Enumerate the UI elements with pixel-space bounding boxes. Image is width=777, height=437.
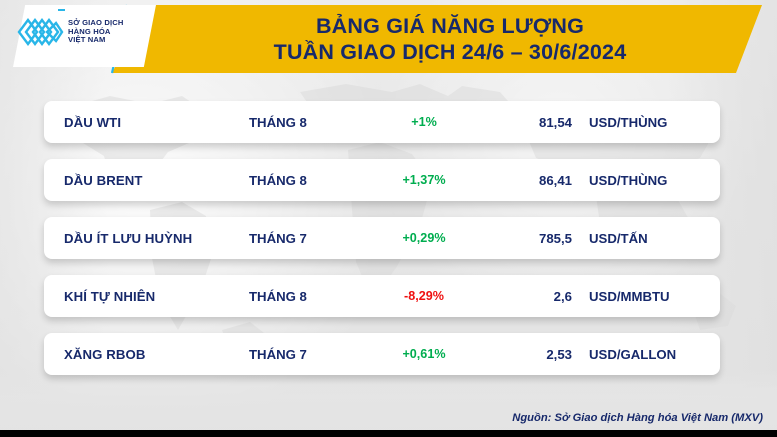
logo-tick-mark-icon bbox=[58, 9, 65, 11]
contract-month: THÁNG 7 bbox=[249, 347, 307, 362]
table-row[interactable]: KHÍ TỰ NHIÊNTHÁNG 8-8,29%2,6USD/MMBTU bbox=[44, 275, 720, 317]
contract-month: THÁNG 8 bbox=[249, 115, 307, 130]
table-row[interactable]: DẦU WTITHÁNG 8+1%81,54USD/THÙNG bbox=[44, 101, 720, 143]
table-row[interactable]: XĂNG RBOBTHÁNG 7+0,61%2,53USD/GALLON bbox=[44, 333, 720, 375]
price-unit: USD/THÙNG bbox=[589, 115, 667, 130]
brand-logo: SỞ GIAO DỊCH HÀNG HÓA VIỆT NAM bbox=[16, 8, 144, 56]
price-value: 86,41 bbox=[434, 173, 572, 188]
footer-bar bbox=[0, 430, 777, 437]
price-unit: USD/MMBTU bbox=[589, 289, 670, 304]
page-title: BẢNG GIÁ NĂNG LƯỢNG TUẦN GIAO DỊCH 24/6 … bbox=[150, 10, 750, 68]
price-table: DẦU WTITHÁNG 8+1%81,54USD/THÙNGDẦU BRENT… bbox=[44, 101, 720, 375]
page-header: BẢNG GIÁ NĂNG LƯỢNG TUẦN GIAO DỊCH 24/6 … bbox=[0, 0, 777, 76]
mxv-chevron-logo-icon bbox=[16, 14, 64, 50]
commodity-name: DẦU BRENT bbox=[64, 173, 143, 188]
background-bottom-band bbox=[0, 370, 777, 437]
price-unit: USD/TẤN bbox=[589, 231, 648, 246]
price-unit: USD/GALLON bbox=[589, 347, 676, 362]
price-value: 81,54 bbox=[434, 115, 572, 130]
price-value: 2,6 bbox=[434, 289, 572, 304]
logo-line-3: VIỆT NAM bbox=[68, 36, 124, 45]
commodity-name: XĂNG RBOB bbox=[64, 347, 146, 362]
energy-price-board: BẢNG GIÁ NĂNG LƯỢNG TUẦN GIAO DỊCH 24/6 … bbox=[0, 0, 777, 437]
commodity-name: DẦU WTI bbox=[64, 115, 121, 130]
commodity-name: DẦU ÍT LƯU HUỲNH bbox=[64, 231, 192, 246]
table-row[interactable]: DẦU BRENTTHÁNG 8+1,37%86,41USD/THÙNG bbox=[44, 159, 720, 201]
page-title-line1: BẢNG GIÁ NĂNG LƯỢNG bbox=[316, 14, 584, 39]
page-title-line2: TUẦN GIAO DỊCH 24/6 – 30/6/2024 bbox=[274, 40, 627, 65]
price-value: 785,5 bbox=[434, 231, 572, 246]
contract-month: THÁNG 7 bbox=[249, 231, 307, 246]
source-note: Nguồn: Sở Giao dịch Hàng hóa Việt Nam (M… bbox=[512, 412, 763, 424]
contract-month: THÁNG 8 bbox=[249, 289, 307, 304]
contract-month: THÁNG 8 bbox=[249, 173, 307, 188]
price-value: 2,53 bbox=[434, 347, 572, 362]
commodity-name: KHÍ TỰ NHIÊN bbox=[64, 289, 155, 304]
price-unit: USD/THÙNG bbox=[589, 173, 667, 188]
table-row[interactable]: DẦU ÍT LƯU HUỲNHTHÁNG 7+0,29%785,5USD/TẤ… bbox=[44, 217, 720, 259]
brand-logo-text: SỞ GIAO DỊCH HÀNG HÓA VIỆT NAM bbox=[68, 19, 124, 45]
